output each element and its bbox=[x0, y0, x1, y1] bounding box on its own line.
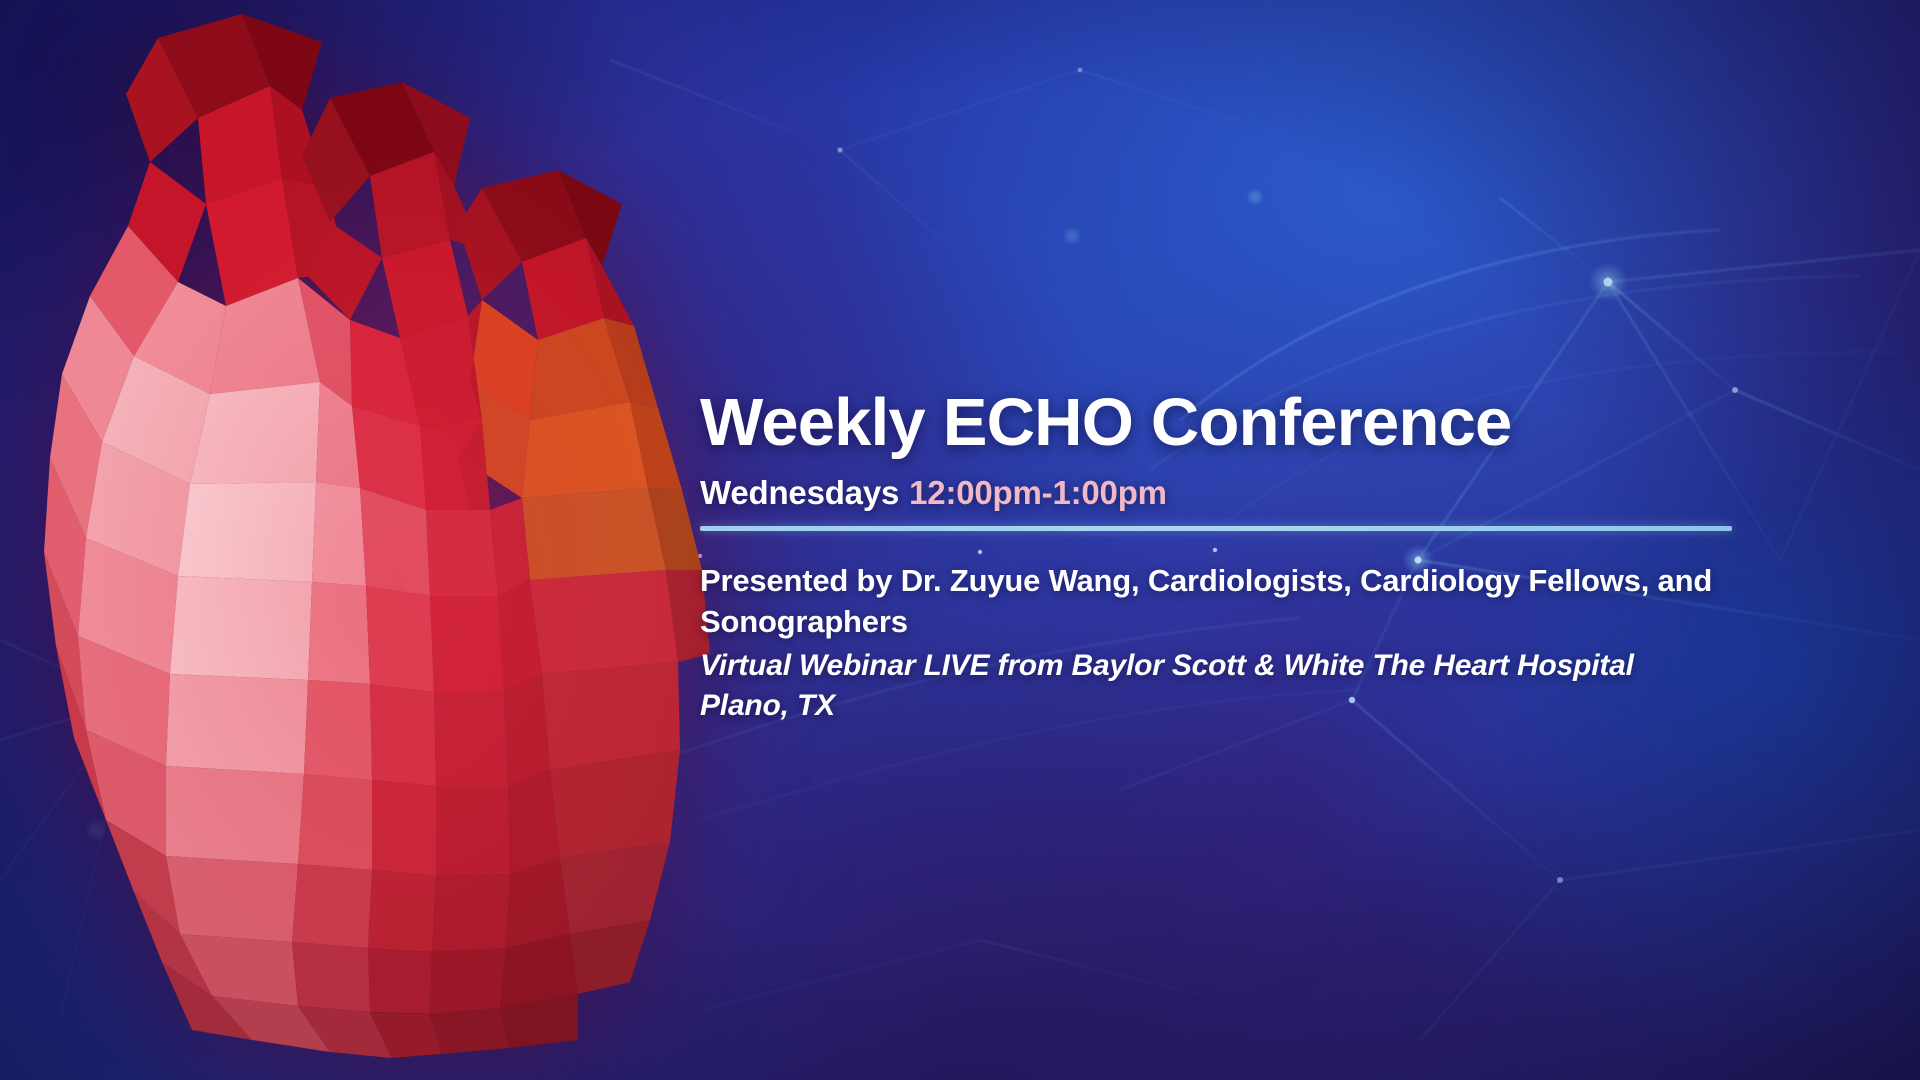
venue-text: Virtual Webinar LIVE from Baylor Scott &… bbox=[700, 646, 1730, 725]
webinar-title-slide: Weekly ECHO Conference Wednesdays12:00pm… bbox=[0, 0, 1920, 1080]
schedule-time: 12:00pm-1:00pm bbox=[909, 474, 1167, 511]
schedule-line: Wednesdays12:00pm-1:00pm bbox=[700, 474, 1800, 512]
section-divider bbox=[700, 526, 1732, 531]
page-title: Weekly ECHO Conference bbox=[700, 388, 1800, 458]
low-poly-heart-icon bbox=[30, 0, 790, 1080]
slide-text-block: Weekly ECHO Conference Wednesdays12:00pm… bbox=[700, 388, 1800, 726]
schedule-day: Wednesdays bbox=[700, 474, 899, 511]
presenter-text: Presented by Dr. Zuyue Wang, Cardiologis… bbox=[700, 561, 1745, 643]
heart-graphic bbox=[30, 0, 790, 1080]
